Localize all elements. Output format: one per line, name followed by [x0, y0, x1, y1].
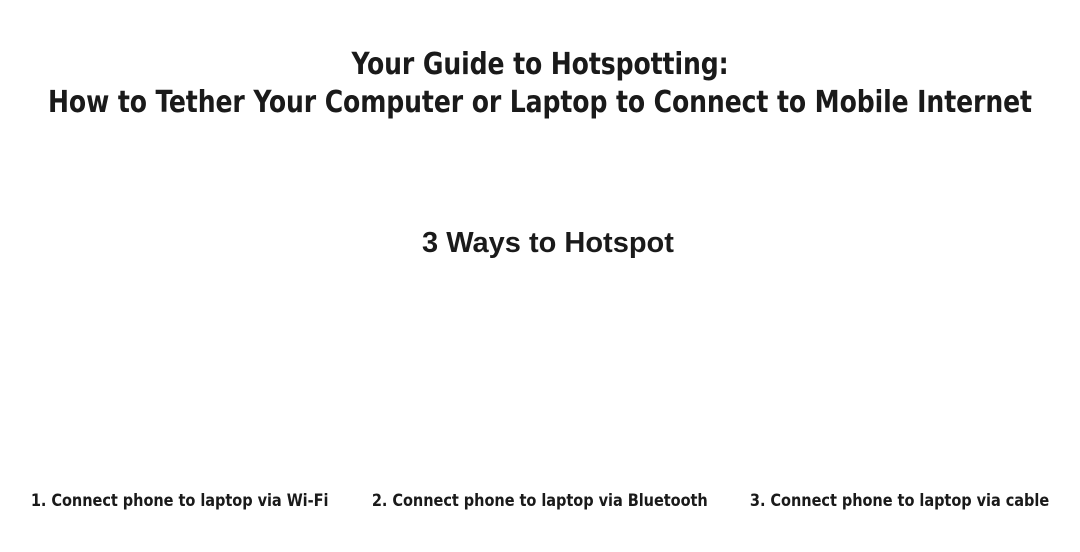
method-item-wifi: 1. Connect phone to laptop via Wi-Fi [0, 487, 360, 515]
illustration-slot-cable [720, 276, 1080, 480]
section-heading-label: 3 Ways to Hotspot [422, 224, 674, 262]
method-item-cable: 3. Connect phone to laptop via cable [720, 487, 1080, 515]
section-heading: 3 Ways to Hotspot [0, 224, 1080, 262]
method-captions-row: 1. Connect phone to laptop via Wi-Fi 2. … [0, 487, 1080, 515]
title-line-2: How to Tether Your Computer or Laptop to… [38, 84, 1042, 122]
method-caption-wifi: 1. Connect phone to laptop via Wi-Fi [31, 490, 329, 512]
method-caption-cable: 3. Connect phone to laptop via cable [750, 490, 1049, 512]
illustration-band [0, 276, 1080, 480]
page-title: Your Guide to Hotspotting: How to Tether… [0, 46, 1080, 122]
illustration-slot-wifi [0, 276, 360, 480]
method-caption-bluetooth: 2. Connect phone to laptop via Bluetooth [372, 490, 708, 512]
title-line-1: Your Guide to Hotspotting: [38, 46, 1042, 84]
infographic-page: Your Guide to Hotspotting: How to Tether… [0, 0, 1080, 552]
method-item-bluetooth: 2. Connect phone to laptop via Bluetooth [360, 487, 720, 515]
illustration-slot-bluetooth [360, 276, 720, 480]
